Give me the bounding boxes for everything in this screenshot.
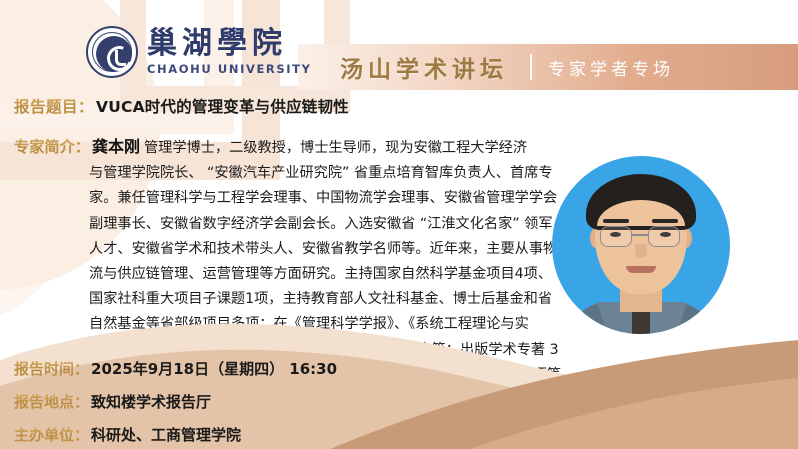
bio-line: 人才、安徽省学术和技术带头人、安徽省教学名师等。近年来，主要从事物 — [14, 237, 574, 262]
university-name-en: CHAOHU UNIVERSITY — [147, 62, 312, 76]
university-name-cn: 巢湖學院 — [147, 28, 312, 60]
report-title-label: 报告题目： — [14, 95, 94, 117]
bio-line: 副理事长、安徽省数字经济学会副会长。入选安徽省 “江淮文化名家” 领军 — [14, 212, 574, 237]
bio-line: 家。兼任管理科学与工程学会理事、中国物流学会理事、安徽省管理学学会 — [14, 186, 574, 211]
portrait-mouth — [626, 266, 656, 273]
report-time-row: 报告时间： 2025年9月18日（星期四） 16:30 — [14, 358, 337, 379]
speaker-portrait — [552, 156, 730, 334]
speaker-name: 龚本刚 — [92, 134, 140, 159]
banner-subtitle: 专家学者专场 — [548, 55, 674, 80]
bio-line: 流与供应链管理、运营管理等方面研究。主持国家自然科学基金项目4项、 — [14, 262, 574, 287]
report-time-label: 报告时间： — [14, 358, 89, 379]
bio-line-text: 管理学博士，二级教授，博士生导师，现为安徽工程大学经济 — [144, 136, 527, 161]
portrait-brow-right — [652, 219, 678, 223]
report-place-label: 报告地点： — [14, 391, 89, 412]
report-place-value: 致知楼学术报告厅 — [91, 391, 211, 412]
organizer-value: 科研处、工商管理学院 — [91, 424, 241, 445]
poster-canvas: 汤山学术讲坛 专家学者专场 巢湖學院 CHAOHU UNIVERSITY 报告题… — [0, 0, 798, 449]
university-logo: 巢湖學院 CHAOHU UNIVERSITY — [86, 26, 312, 78]
report-title-row: 报告题目： VUCA时代的管理变革与供应链韧性 — [14, 95, 349, 117]
banner-divider — [530, 54, 532, 80]
seal-core — [96, 36, 132, 72]
bio-line: 与管理学院院长、 “安徽汽车产业研究院” 省重点培育智库负责人、首席专 — [14, 161, 574, 186]
portrait-glasses-bridge — [632, 234, 648, 236]
report-place-row: 报告地点： 致知楼学术报告厅 — [14, 391, 211, 412]
portrait-nose — [635, 244, 647, 258]
report-title-value: VUCA时代的管理变革与供应链韧性 — [96, 95, 349, 117]
organizer-label: 主办单位： — [14, 424, 89, 445]
banner-title: 汤山学术讲坛 — [340, 50, 508, 84]
organizer-row: 主办单位： 科研处、工商管理学院 — [14, 424, 241, 445]
bio-label: 专家简介： — [14, 135, 90, 160]
seal-bird-glyph — [115, 50, 126, 66]
university-seal-icon — [86, 26, 138, 78]
portrait-glasses-left — [600, 226, 632, 247]
portrait-glasses-right — [648, 226, 680, 247]
portrait-brow-left — [603, 219, 629, 223]
bio-line: 专家简介： 龚本刚 管理学博士，二级教授，博士生导师，现为安徽工程大学经济 — [14, 134, 574, 161]
report-time-value: 2025年9月18日（星期四） 16:30 — [91, 358, 337, 379]
lecture-series-banner: 汤山学术讲坛 专家学者专场 — [298, 44, 798, 90]
